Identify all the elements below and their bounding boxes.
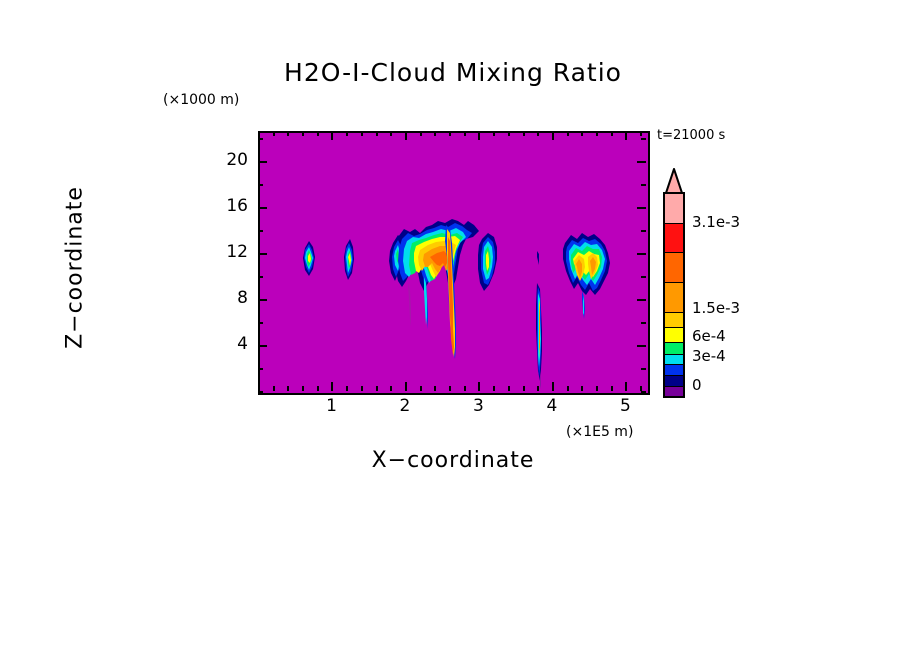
x-tick-top — [493, 131, 495, 136]
x-tick-label: 2 — [390, 396, 420, 416]
colorbar-segment — [665, 354, 683, 364]
colorbar-tick-label: 3.1e-3 — [692, 213, 740, 231]
x-tick-top — [449, 131, 451, 136]
colorbar-segment — [665, 375, 683, 386]
x-tick-bottom — [552, 382, 554, 391]
x-tick-top — [361, 131, 363, 136]
colorbar-segment — [665, 342, 683, 354]
contour-field — [260, 133, 648, 393]
y-tick-label: 12 — [212, 242, 248, 262]
x-tick-label: 5 — [610, 396, 640, 416]
x-tick-top — [596, 131, 598, 136]
y-tick-right — [641, 138, 646, 140]
x-tick-bottom — [331, 382, 333, 391]
colorbar-segment — [665, 194, 683, 223]
x-tick-bottom — [273, 386, 275, 391]
colorbar[interactable] — [663, 192, 685, 398]
y-tick-left — [258, 253, 267, 255]
x-tick-bottom — [302, 386, 304, 391]
x-tick-bottom — [581, 386, 583, 391]
x-tick-label: 3 — [463, 396, 493, 416]
x-tick-bottom — [478, 382, 480, 391]
y-tick-right — [641, 322, 646, 324]
y-tick-label: 16 — [212, 196, 248, 216]
x-tick-bottom — [596, 386, 598, 391]
x-tick-top — [273, 131, 275, 136]
x-tick-top — [640, 131, 642, 136]
y-tick-right — [641, 368, 646, 370]
x-tick-bottom — [449, 386, 451, 391]
y-tick-right — [637, 161, 646, 163]
x-tick-bottom — [625, 382, 627, 391]
colorbar-tick-label: 1.5e-3 — [692, 299, 740, 317]
x-tick-bottom — [567, 386, 569, 391]
x-tick-top — [434, 131, 436, 136]
colorbar-tick-label: 0 — [692, 376, 702, 394]
colorbar-segment — [665, 282, 683, 312]
x-tick-top — [581, 131, 583, 136]
x-tick-label: 4 — [537, 396, 567, 416]
y-tick-left — [258, 230, 263, 232]
x-tick-top — [567, 131, 569, 136]
x-tick-bottom — [493, 386, 495, 391]
colorbar-segment — [665, 364, 683, 375]
plot-area — [258, 131, 650, 395]
x-tick-top — [317, 131, 319, 136]
x-tick-top — [420, 131, 422, 136]
y-axis-title: Z−coordinate — [63, 138, 88, 398]
y-tick-left — [258, 207, 267, 209]
x-tick-bottom — [376, 386, 378, 391]
x-tick-top — [611, 131, 613, 136]
y-tick-right — [637, 207, 646, 209]
x-tick-top — [478, 131, 480, 140]
y-tick-left — [258, 299, 267, 301]
x-tick-bottom — [464, 386, 466, 391]
x-tick-bottom — [405, 382, 407, 391]
y-tick-right — [637, 345, 646, 347]
x-axis-title: X−coordinate — [258, 448, 648, 473]
y-tick-right — [641, 391, 646, 393]
x-tick-top — [405, 131, 407, 140]
x-tick-top — [287, 131, 289, 136]
y-tick-right — [637, 253, 646, 255]
colorbar-segment — [665, 252, 683, 282]
y-tick-right — [641, 276, 646, 278]
x-tick-top — [302, 131, 304, 136]
y-tick-left — [258, 368, 263, 370]
colorbar-arrow-icon — [663, 168, 685, 194]
page-title: H2O-I-Cloud Mixing Ratio — [258, 58, 648, 87]
x-tick-bottom — [537, 386, 539, 391]
x-tick-top — [376, 131, 378, 136]
x-tick-top — [464, 131, 466, 136]
y-tick-left — [258, 276, 263, 278]
z-unit-label: (×1000 m) — [163, 92, 239, 108]
x-tick-label: 1 — [316, 396, 346, 416]
x-tick-top — [523, 131, 525, 136]
x-tick-bottom — [361, 386, 363, 391]
x-tick-bottom — [611, 386, 613, 391]
colorbar-tick-label: 6e-4 — [692, 327, 726, 345]
x-tick-top — [390, 131, 392, 136]
y-tick-label: 20 — [212, 150, 248, 170]
x-tick-bottom — [317, 386, 319, 391]
y-tick-left — [258, 161, 267, 163]
x-unit-label: (×1E5 m) — [566, 424, 633, 440]
x-tick-top — [625, 131, 627, 140]
x-tick-top — [552, 131, 554, 140]
x-tick-bottom — [346, 386, 348, 391]
y-tick-label: 8 — [212, 288, 248, 308]
colorbar-segment — [665, 386, 683, 396]
y-tick-label: 4 — [212, 334, 248, 354]
x-tick-bottom — [523, 386, 525, 391]
y-tick-right — [641, 184, 646, 186]
y-tick-left — [258, 138, 263, 140]
y-tick-left — [258, 322, 263, 324]
x-tick-bottom — [287, 386, 289, 391]
x-tick-top — [537, 131, 539, 136]
timestamp-label: t=21000 s — [657, 128, 725, 143]
x-tick-top — [508, 131, 510, 136]
x-tick-top — [258, 131, 260, 136]
y-tick-left — [258, 184, 263, 186]
y-tick-left — [258, 391, 263, 393]
colorbar-tick-label: 3e-4 — [692, 347, 726, 365]
y-tick-right — [637, 299, 646, 301]
x-tick-top — [331, 131, 333, 140]
colorbar-segment — [665, 396, 683, 398]
y-tick-right — [641, 230, 646, 232]
y-tick-left — [258, 345, 267, 347]
x-tick-bottom — [390, 386, 392, 391]
colorbar-segment — [665, 223, 683, 253]
colorbar-segment — [665, 327, 683, 342]
x-tick-bottom — [420, 386, 422, 391]
x-tick-bottom — [434, 386, 436, 391]
figure-canvas: H2O-I-Cloud Mixing Ratio (×1000 m) t=210… — [0, 0, 904, 654]
x-tick-bottom — [508, 386, 510, 391]
colorbar-segment — [665, 312, 683, 327]
x-tick-top — [346, 131, 348, 136]
